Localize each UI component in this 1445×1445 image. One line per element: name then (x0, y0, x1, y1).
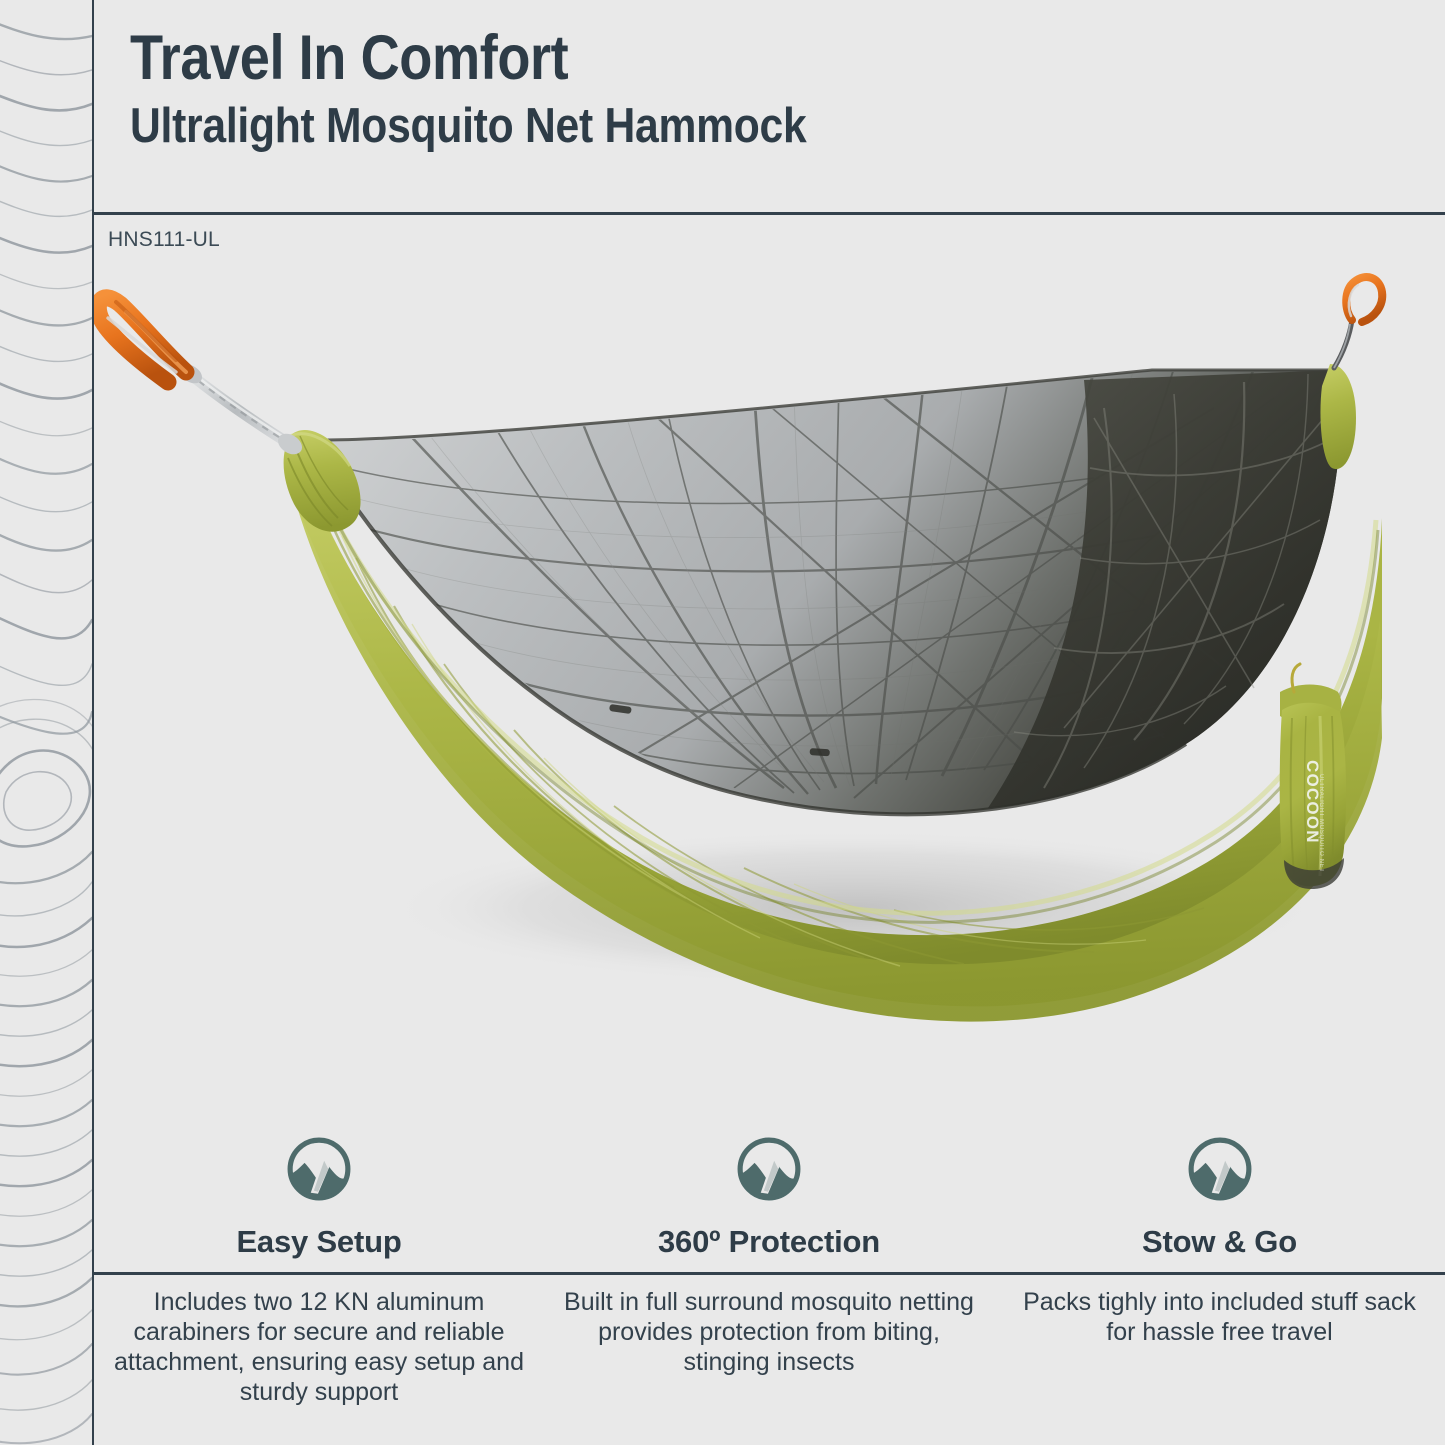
feature-360-protection: 360º Protection Built in full surround m… (544, 1128, 994, 1445)
infographic-page: Travel In Comfort Ultralight Mosquito Ne… (0, 0, 1445, 1445)
feature-description: Packs tighly into included stuff sack fo… (994, 1287, 1445, 1347)
features-row: Easy Setup Includes two 12 KN aluminum c… (94, 1128, 1445, 1445)
mountain-circle-icon (736, 1136, 802, 1202)
page-subtitle: Ultralight Mosquito Net Hammock (130, 100, 1274, 153)
feature-description: Includes two 12 KN aluminum carabiners f… (94, 1287, 544, 1407)
feature-title: Easy Setup (236, 1224, 401, 1260)
feature-easy-setup: Easy Setup Includes two 12 KN aluminum c… (94, 1128, 544, 1445)
sku-label: HNS111-UL (108, 228, 220, 252)
feature-description: Built in full surround mosquito netting … (544, 1287, 994, 1377)
header: Travel In Comfort Ultralight Mosquito Ne… (94, 0, 1445, 212)
mountain-circle-icon (286, 1136, 352, 1202)
header-divider (94, 212, 1445, 215)
mountain-circle-icon (1187, 1136, 1253, 1202)
svg-text:ULTRALIGHT MOSQUITO NET: ULTRALIGHT MOSQUITO NET (1318, 774, 1324, 872)
feature-title: Stow & Go (1142, 1224, 1297, 1260)
product-image: COCOON ULTRALIGHT MOSQUITO NET (94, 268, 1445, 1128)
feature-stow-and-go: Stow & Go Packs tighly into included stu… (994, 1128, 1445, 1445)
feature-title: 360º Protection (658, 1224, 880, 1260)
topographic-pattern (0, 0, 92, 1445)
page-title: Travel In Comfort (130, 26, 1261, 90)
